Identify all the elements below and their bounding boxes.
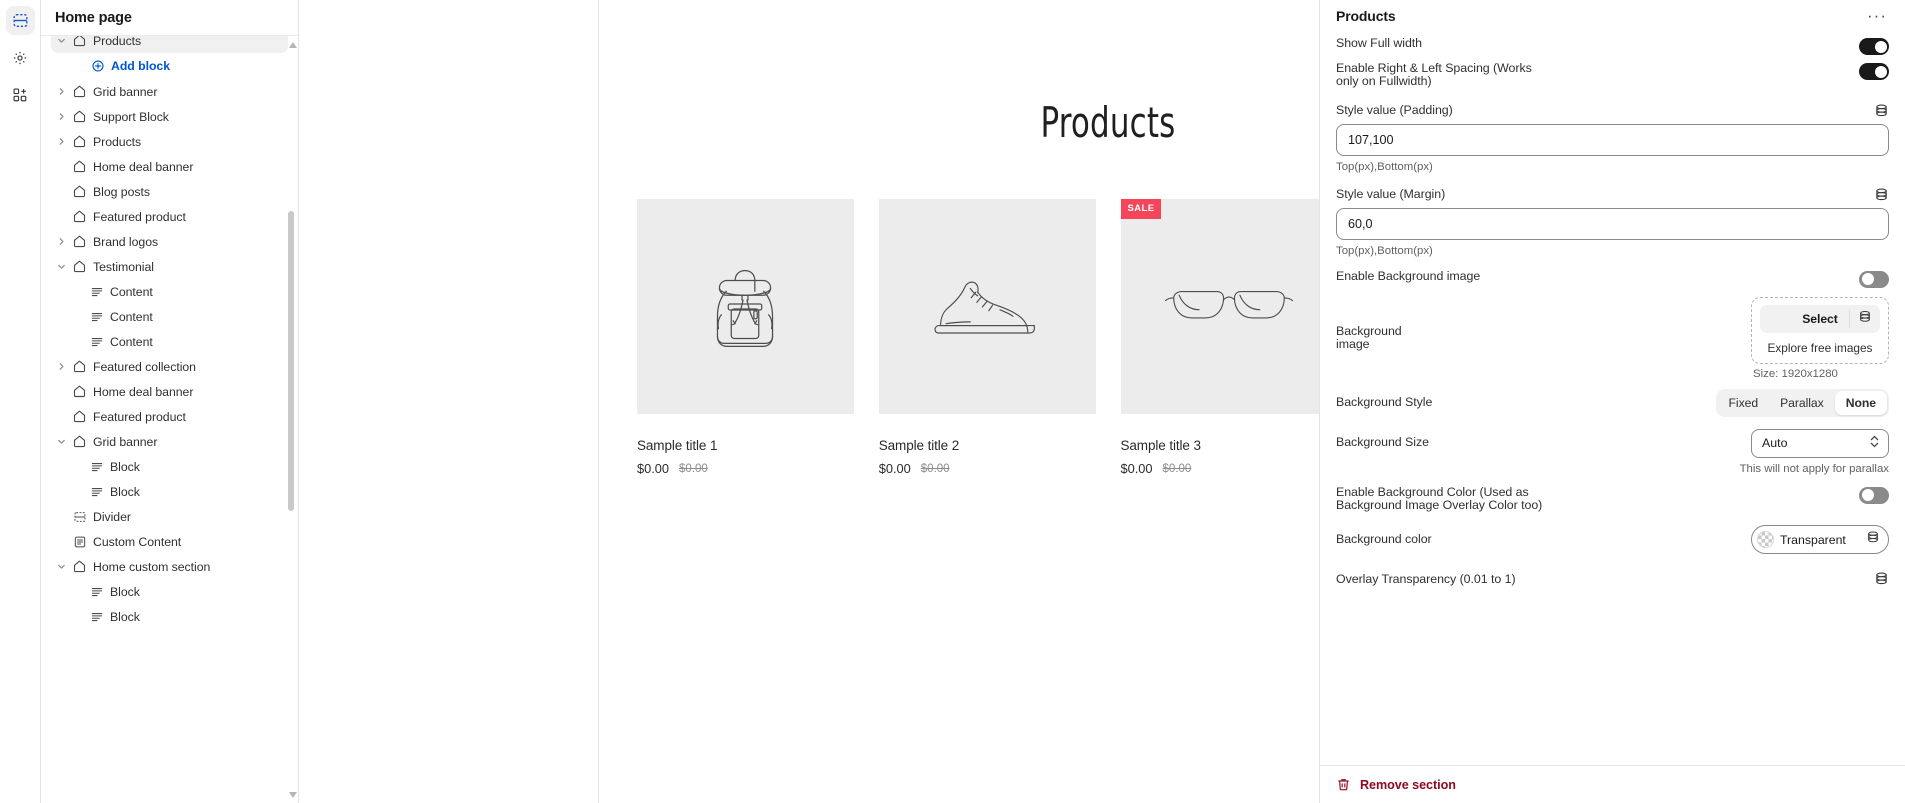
home-icon	[70, 559, 89, 574]
home-icon	[70, 109, 89, 124]
row-enable-background-image: Enable Background image	[1336, 257, 1889, 288]
sidebar-item-blog-posts[interactable]: Blog posts	[51, 179, 288, 204]
row-enable-side-spacing: Enable Right & Left Spacing (Works only …	[1336, 55, 1889, 89]
sidebar-item-products[interactable]: Products	[51, 36, 288, 53]
toggle-enable-side-spacing[interactable]	[1859, 63, 1889, 80]
helper-margin: Top(px),Bottom(px)	[1336, 245, 1889, 257]
chevron-down-icon[interactable]	[53, 262, 70, 271]
home-icon	[70, 159, 89, 174]
content-icon	[70, 535, 89, 549]
toggle-show-full-width[interactable]	[1859, 38, 1889, 55]
sidebar-header: Home page	[41, 0, 298, 36]
sidebar-item-label: Products	[93, 135, 141, 149]
divider-icon	[70, 510, 89, 524]
home-icon	[70, 184, 89, 199]
glasses-placeholder	[1161, 248, 1297, 366]
product-compare-price: $0.00	[679, 463, 708, 475]
rail-button-theme-settings[interactable]	[6, 43, 35, 72]
helper-padding: Top(px),Bottom(px)	[1336, 161, 1889, 173]
label-style-value-padding: Style value (Padding)	[1336, 103, 1453, 117]
chevron-right-icon[interactable]	[53, 137, 70, 146]
sidebar-item-grid-banner[interactable]: Grid banner	[51, 79, 288, 104]
apps-add-icon	[12, 87, 28, 103]
toggle-knob	[1875, 41, 1887, 53]
chevron-right-icon[interactable]	[53, 362, 70, 371]
product-card[interactable]: Sample title 2$0.00$0.00	[879, 199, 1096, 476]
remove-section-label: Remove section	[1360, 778, 1456, 792]
text-icon	[87, 285, 106, 299]
panel-title: Products	[1336, 8, 1395, 24]
product-image-placeholder: SALE	[1121, 199, 1320, 414]
text-icon	[87, 485, 106, 499]
sale-badge: SALE	[1121, 199, 1162, 219]
sidebar-scrollbar-thumb[interactable]	[288, 211, 294, 511]
chevron-right-icon[interactable]	[53, 237, 70, 246]
sidebar-item-label: Home deal banner	[93, 160, 193, 174]
color-picker-background-color[interactable]: Transparent	[1751, 525, 1889, 554]
segment-fixed[interactable]: Fixed	[1718, 391, 1770, 415]
home-icon	[70, 209, 89, 224]
background-image-size-note: Size: 1920x1280	[1751, 368, 1838, 380]
add-block-label: Add block	[111, 59, 170, 73]
home-icon	[70, 434, 89, 449]
row-padding-label: Style value (Padding)	[1336, 103, 1889, 118]
plus-circle-icon	[91, 59, 105, 73]
sidebar-item-label: Blog posts	[93, 185, 150, 199]
input-style-value-padding[interactable]: 107,100	[1336, 124, 1889, 156]
products-section-heading: Products	[691, 98, 1319, 147]
toggle-knob	[1875, 66, 1887, 78]
color-swatch-transparent-icon	[1757, 531, 1774, 548]
product-title[interactable]: Sample title 3	[1121, 438, 1320, 453]
sidebar-item-block[interactable]: Block	[51, 604, 288, 629]
label-overlay-transparency: Overlay Transparency (0.01 to 1)	[1336, 572, 1516, 586]
rail-button-sections[interactable]	[6, 6, 35, 35]
sidebar-item-label: Divider	[93, 510, 131, 524]
rail-button-apps[interactable]	[6, 80, 35, 109]
text-icon	[87, 585, 106, 599]
dynamic-source-icon[interactable]	[1866, 530, 1880, 549]
label-background-color: Background color	[1336, 533, 1432, 546]
explore-free-images-link[interactable]: Explore free images	[1768, 341, 1873, 355]
product-grid: Sample title 1$0.00$0.00Sample title 2$0…	[599, 199, 1319, 476]
product-card[interactable]: SALESample title 3$0.00$0.00	[1121, 199, 1320, 476]
remove-section-button[interactable]: Remove section	[1336, 777, 1889, 792]
dynamic-source-icon[interactable]	[1858, 309, 1872, 328]
select-value: Auto	[1762, 436, 1788, 450]
row-background-color: Background color Transparent	[1336, 512, 1889, 554]
sidebar-item-label: Featured product	[93, 210, 186, 224]
segmented-control-background-style[interactable]: FixedParallaxNone	[1716, 389, 1889, 417]
panel-footer: Remove section	[1320, 765, 1905, 803]
sidebar-item-label: Content	[110, 285, 153, 299]
sidebar-item-label: Featured product	[93, 410, 186, 424]
background-image-dropzone[interactable]: Select Explore free images	[1751, 297, 1889, 364]
product-price: $0.00	[879, 461, 911, 476]
sidebar-item-content[interactable]: Content	[51, 304, 288, 329]
text-icon	[87, 460, 106, 474]
row-enable-background-color: Enable Background Color (Used as Backgro…	[1336, 475, 1889, 513]
sidebar-item-label: Brand logos	[93, 235, 158, 249]
sidebar-item-label: Home custom section	[93, 560, 210, 574]
product-title[interactable]: Sample title 1	[637, 438, 854, 453]
dynamic-source-icon[interactable]	[1874, 187, 1889, 202]
product-compare-price: $0.00	[1163, 463, 1192, 475]
panel-header: Products ···	[1336, 0, 1889, 30]
home-icon	[70, 409, 89, 424]
section-tree-scroll-area[interactable]: ProductsAdd blockGrid bannerSupport Bloc…	[41, 36, 298, 803]
home-icon	[70, 84, 89, 99]
label-style-value-margin: Style value (Margin)	[1336, 187, 1445, 201]
product-card[interactable]: Sample title 1$0.00$0.00	[637, 199, 854, 476]
sidebar-item-label: Testimonial	[93, 260, 154, 274]
segment-parallax[interactable]: Parallax	[1769, 391, 1835, 415]
product-price-row: $0.00$0.00	[637, 461, 854, 476]
input-value: 107,100	[1348, 133, 1394, 147]
sidebar-item-block[interactable]: Block	[51, 454, 288, 479]
add-block-button[interactable]: Add block	[51, 53, 288, 79]
toggle-knob	[1862, 489, 1874, 501]
home-icon	[70, 359, 89, 374]
chevron-right-icon[interactable]	[53, 87, 70, 96]
sidebar-item-support-block[interactable]: Support Block	[51, 104, 288, 129]
sidebar-item-featured-product[interactable]: Featured product	[51, 204, 288, 229]
home-icon	[70, 259, 89, 274]
sidebar-item-divider[interactable]: Divider	[51, 504, 288, 529]
sidebar-item-block[interactable]: Block	[51, 579, 288, 604]
select-background-size[interactable]: Auto	[1751, 429, 1889, 458]
sidebar-item-label: Content	[110, 335, 153, 349]
sidebar-item-testimonial[interactable]: Testimonial	[51, 254, 288, 279]
sidebar-item-label: Grid banner	[93, 85, 157, 99]
sidebar-scroll-down-arrow[interactable]	[288, 790, 297, 799]
select-image-button[interactable]: Select	[1760, 305, 1880, 333]
sidebar-item-label: Products	[93, 36, 141, 48]
shoe-placeholder	[922, 248, 1052, 366]
sidebar-item-block[interactable]: Block	[51, 479, 288, 504]
page-title: Home page	[55, 10, 132, 26]
backpack-placeholder	[686, 248, 804, 366]
row-overlay-transparency: Overlay Transparency (0.01 to 1)	[1336, 571, 1889, 586]
home-icon	[70, 234, 89, 249]
text-icon	[87, 610, 106, 624]
sidebar-item-content[interactable]: Content	[51, 279, 288, 304]
toggle-enable-background-image[interactable]	[1859, 271, 1889, 288]
preview-area: Products Sample title 1$0.00$0.00Sample …	[299, 0, 1319, 803]
button-divider	[1849, 310, 1850, 328]
sidebar-item-label: Grid banner	[93, 435, 157, 449]
segment-none[interactable]: None	[1835, 391, 1887, 415]
label-enable-background-image: Enable Background image	[1336, 270, 1480, 283]
chevron-down-icon[interactable]	[53, 562, 70, 571]
sidebar-item-featured-collection[interactable]: Featured collection	[51, 354, 288, 379]
sidebar-item-label: Content	[110, 310, 153, 324]
sidebar-item-label: Block	[110, 485, 140, 499]
label-background-image: Background image	[1336, 325, 1436, 352]
input-style-value-margin[interactable]: 60,0	[1336, 208, 1889, 240]
stepper-chevrons-icon	[1869, 434, 1880, 452]
sidebar-item-label: Featured collection	[93, 360, 196, 374]
label-show-full-width: Show Full width	[1336, 37, 1422, 50]
section-settings-panel: Products ··· Show Full width Enable Righ…	[1319, 0, 1905, 803]
settings-gear-icon	[12, 50, 28, 66]
dynamic-source-icon[interactable]	[1874, 103, 1889, 118]
text-icon	[87, 310, 106, 324]
sidebar-item-products[interactable]: Products	[51, 129, 288, 154]
label-background-style: Background Style	[1336, 396, 1432, 409]
label-enable-background-color: Enable Background Color (Used as Backgro…	[1336, 486, 1551, 513]
sidebar-item-content[interactable]: Content	[51, 329, 288, 354]
label-background-size: Background Size	[1336, 436, 1429, 449]
row-margin-label: Style value (Margin)	[1336, 187, 1889, 202]
sidebar-item-label: Home deal banner	[93, 385, 193, 399]
sidebar-item-label: Custom Content	[93, 535, 181, 549]
theme-editor-window: Home page ProductsAdd blockGrid bannerSu…	[0, 0, 1905, 803]
left-icon-rail	[0, 0, 41, 803]
product-compare-price: $0.00	[921, 463, 950, 475]
home-icon	[70, 134, 89, 149]
chevron-down-icon[interactable]	[53, 36, 70, 45]
home-icon	[70, 36, 89, 48]
product-price: $0.00	[637, 461, 669, 476]
sidebar-item-home-deal-banner[interactable]: Home deal banner	[51, 379, 288, 404]
sidebar-item-label: Support Block	[93, 110, 169, 124]
sidebar-item-brand-logos[interactable]: Brand logos	[51, 229, 288, 254]
sidebar-item-custom-content[interactable]: Custom Content	[51, 529, 288, 554]
row-show-full-width: Show Full width	[1336, 30, 1889, 55]
product-image-placeholder	[637, 199, 854, 414]
chevron-down-icon[interactable]	[53, 437, 70, 446]
input-value: 60,0	[1348, 217, 1373, 231]
row-background-image: Background image Select	[1336, 297, 1889, 380]
panel-more-menu-button[interactable]: ···	[1865, 7, 1889, 25]
select-image-label: Select	[1802, 312, 1838, 326]
text-icon	[87, 335, 106, 349]
dynamic-source-icon[interactable]	[1874, 571, 1889, 586]
row-background-size: Background Size Auto	[1336, 417, 1889, 458]
label-enable-side-spacing: Enable Right & Left Spacing (Works only …	[1336, 62, 1551, 89]
helper-background-size: This will not apply for parallax	[1336, 463, 1889, 475]
sidebar-item-label: Block	[110, 610, 140, 624]
toggle-enable-background-color[interactable]	[1859, 487, 1889, 504]
sections-sidebar: Home page ProductsAdd blockGrid bannerSu…	[41, 0, 299, 803]
home-icon	[70, 384, 89, 399]
chevron-right-icon[interactable]	[53, 112, 70, 121]
row-background-style: Background Style FixedParallaxNone	[1336, 380, 1889, 417]
trash-icon	[1336, 777, 1351, 792]
toggle-knob	[1862, 273, 1874, 285]
product-title[interactable]: Sample title 2	[879, 438, 1096, 453]
sidebar-item-home-custom-section[interactable]: Home custom section	[51, 554, 288, 579]
sidebar-scrollbar-track[interactable]	[290, 36, 296, 801]
product-price-row: $0.00$0.00	[1121, 461, 1320, 476]
product-price: $0.00	[1121, 461, 1153, 476]
sections-icon	[12, 12, 29, 29]
sidebar-item-label: Block	[110, 585, 140, 599]
storefront-preview-frame[interactable]: Products Sample title 1$0.00$0.00Sample …	[598, 0, 1319, 803]
product-price-row: $0.00$0.00	[879, 461, 1096, 476]
product-image-placeholder	[879, 199, 1096, 414]
sidebar-item-featured-product[interactable]: Featured product	[51, 404, 288, 429]
sidebar-item-home-deal-banner[interactable]: Home deal banner	[51, 154, 288, 179]
sidebar-item-label: Block	[110, 460, 140, 474]
color-value-label: Transparent	[1780, 533, 1860, 547]
section-tree: ProductsAdd blockGrid bannerSupport Bloc…	[41, 36, 298, 639]
sidebar-item-grid-banner[interactable]: Grid banner	[51, 429, 288, 454]
